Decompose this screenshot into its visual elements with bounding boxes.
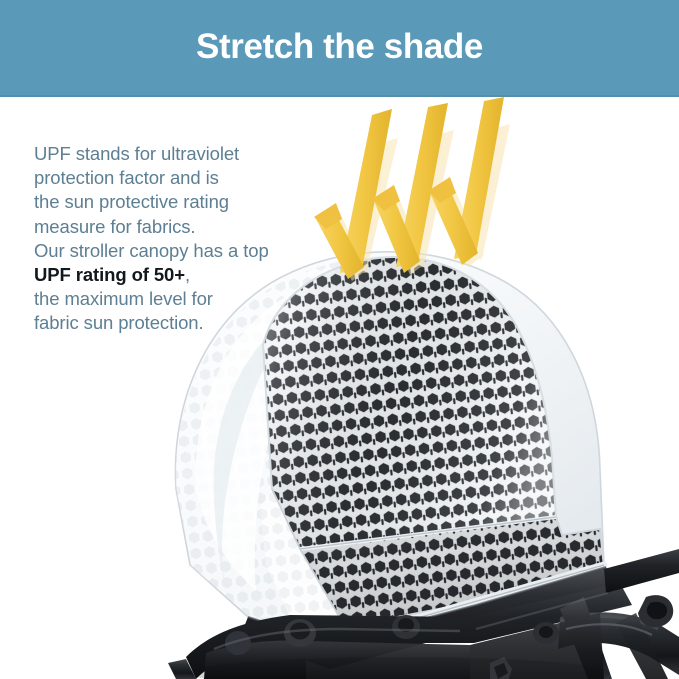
page-title: Stretch the shade (196, 29, 483, 64)
copy-line-3: the sun protective rating (34, 190, 334, 214)
body-copy: UPF stands for ultraviolet protection fa… (34, 142, 334, 336)
upf-rating-comma: , (185, 264, 190, 285)
copy-line-4: measure for fabrics. (34, 215, 334, 239)
copy-line-8: fabric sun protection. (34, 311, 334, 335)
copy-line-1: UPF stands for ultraviolet (34, 142, 334, 166)
copy-line-6: UPF rating of 50+, (34, 263, 334, 287)
copy-line-5: Our stroller canopy has a top (34, 239, 334, 263)
copy-line-2: protection factor and is (34, 166, 334, 190)
upf-rating-emphasis: UPF rating of 50+ (34, 264, 185, 285)
header-banner: Stretch the shade (0, 0, 679, 97)
copy-line-7: the maximum level for (34, 287, 334, 311)
page-root: Stretch the shade (0, 0, 679, 679)
